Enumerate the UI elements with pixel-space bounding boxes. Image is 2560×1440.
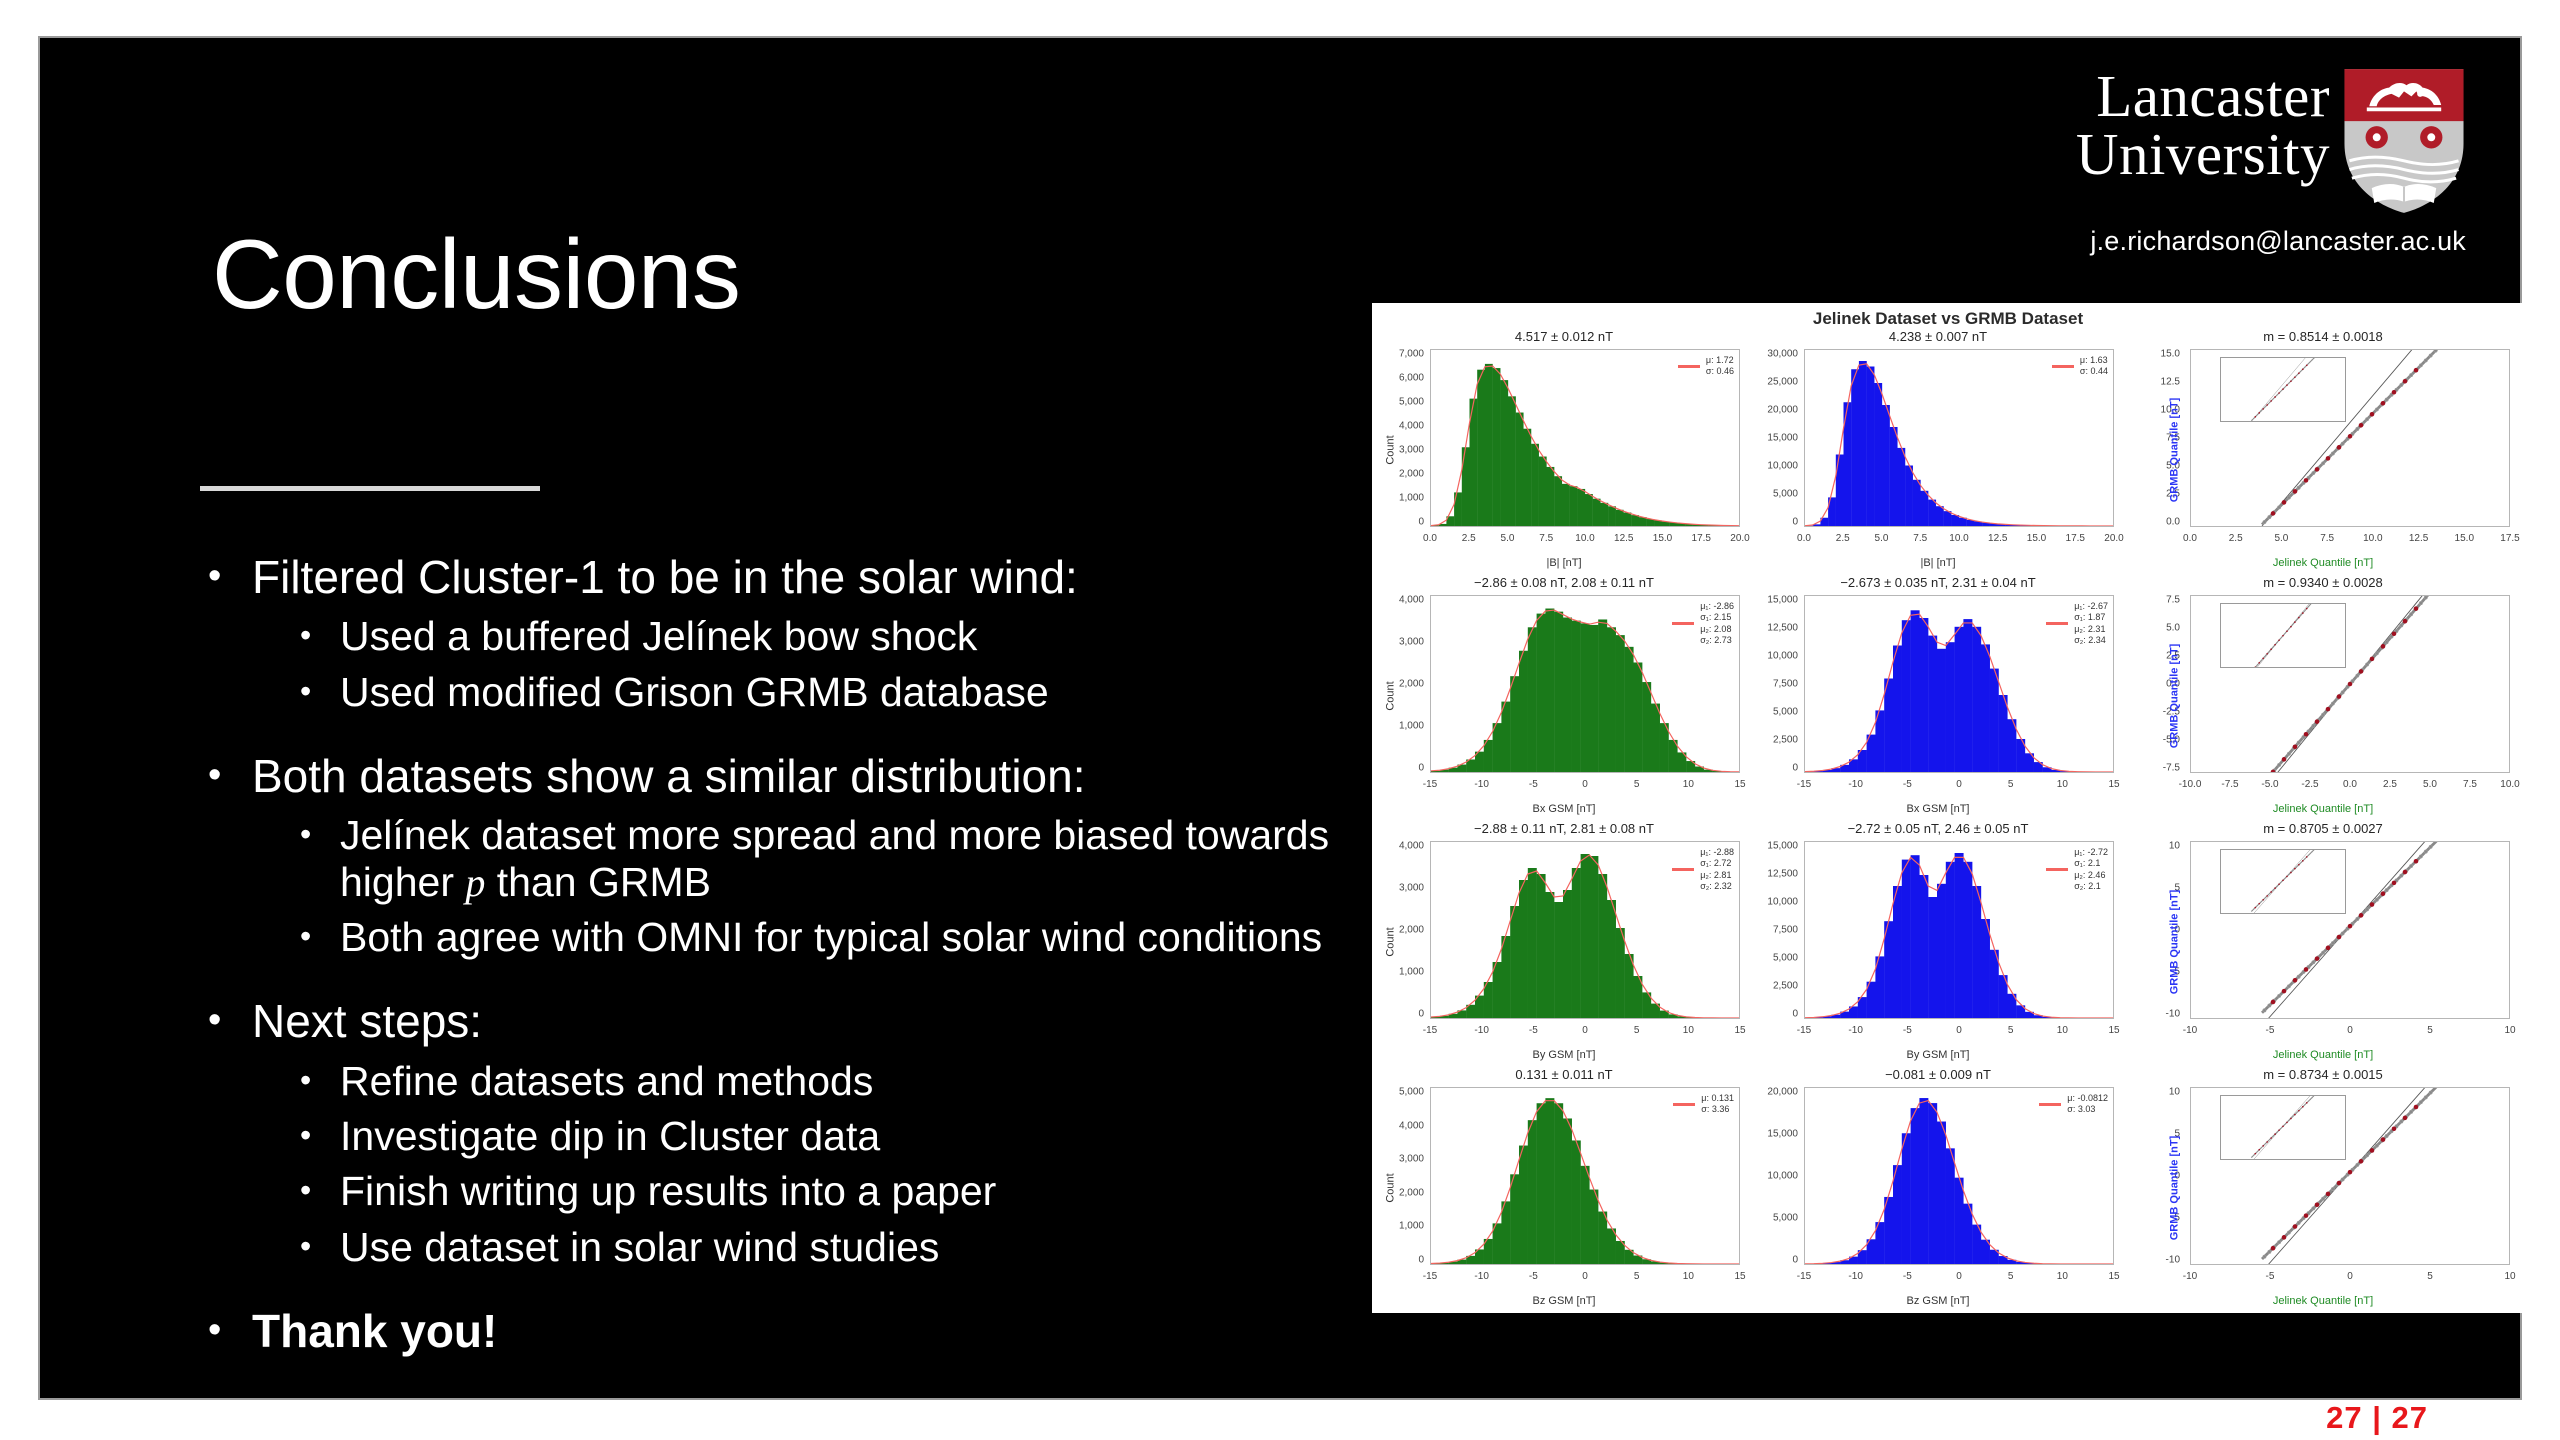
x-tick: 5	[1634, 779, 1640, 790]
quantile-point	[2282, 880, 2284, 882]
quantile-point	[2282, 1235, 2287, 1240]
quantile-point	[2262, 657, 2264, 659]
x-tick: -5	[2266, 1271, 2275, 1282]
x-tick: 2.5	[2229, 533, 2243, 544]
x-tick: -10	[1848, 779, 1862, 790]
y-tick: 0	[1418, 1254, 1424, 1265]
legend-entries: μ: 0.131σ: 3.36	[1701, 1093, 1734, 1116]
plot-grid: 4.517 ± 0.012 nTμ: 1.72σ: 0.4601,0002,00…	[1372, 327, 2524, 1313]
bullet-dot-icon: •	[300, 669, 340, 715]
x-tick-labels: 0.02.55.07.510.012.515.017.520.0	[1804, 533, 2114, 547]
quantile-point	[2304, 478, 2309, 483]
y-tick: 7,500	[1773, 679, 1798, 690]
quantile-point	[2266, 404, 2268, 406]
y-axis-label: Count	[1385, 927, 1397, 956]
y-tick: 0	[1792, 762, 1798, 773]
bullet-dot-icon: •	[300, 812, 340, 905]
x-tick: 10	[1683, 779, 1694, 790]
y-tick: 2,000	[1399, 1187, 1424, 1198]
legend-entry: σ: 3.03	[2067, 1104, 2108, 1115]
plot-cell-row3-qq: m = 0.8705 ± 0.0027-10-50510-10-50510Jel…	[2128, 819, 2518, 1065]
quantile-point	[2290, 380, 2292, 382]
x-tick: 0	[1582, 1025, 1588, 1036]
quantile-point	[2293, 1224, 2298, 1229]
quantile-point	[2282, 500, 2287, 505]
legend-entries: μ: 1.63σ: 0.44	[2080, 355, 2108, 378]
plot-title: −2.86 ± 0.08 nT, 2.08 ± 0.11 nT	[1378, 575, 1750, 590]
x-tick: 7.5	[1539, 533, 1553, 544]
quantile-point	[2302, 860, 2304, 862]
x-tick: 0	[1582, 779, 1588, 790]
x-tick-labels: 0.02.55.07.510.012.515.017.5	[2190, 533, 2510, 547]
plot-cell-row3-jelinek: −2.88 ± 0.11 nT, 2.81 ± 0.08 nTμ₁: -2.88…	[1378, 819, 1750, 1065]
quantile-point	[2262, 1145, 2264, 1147]
quantile-point	[2306, 608, 2308, 610]
x-tick: 15	[1734, 779, 1745, 790]
y-tick: 10	[2169, 841, 2180, 852]
bullet-text: Jelínek dataset more spread and more bia…	[340, 812, 1338, 905]
plot-cell-row2-grmb: −2.673 ± 0.035 nT, 2.31 ± 0.04 nTμ₁: -2.…	[1752, 573, 2124, 819]
quantile-point	[2337, 694, 2342, 699]
bullet-level2: •Refine datasets and methods	[300, 1058, 1338, 1104]
x-tick: 5	[2008, 1025, 2014, 1036]
plot-cell-row1-jelinek: 4.517 ± 0.012 nTμ: 1.72σ: 0.4601,0002,00…	[1378, 327, 1750, 573]
quantile-point	[2306, 364, 2308, 366]
y-tick: 5,000	[1399, 1087, 1424, 1098]
figure-suptitle: Jelinek Dataset vs GRMB Dataset	[1372, 309, 2524, 329]
x-tick: 10	[1683, 1025, 1694, 1036]
quantile-point	[2270, 400, 2272, 402]
bullet-level2: •Use dataset in solar wind studies	[300, 1224, 1338, 1270]
quantile-point	[2414, 859, 2419, 864]
quantile-point	[2274, 644, 2276, 646]
y-tick: 20,000	[1767, 405, 1798, 416]
x-tick: 17.5	[2500, 533, 2519, 544]
legend-swatch-icon	[1678, 365, 1700, 368]
legend-entry: σ: 3.36	[1701, 1104, 1734, 1115]
y-tick: -10	[2166, 1008, 2180, 1019]
bullet-dot-icon: •	[208, 750, 252, 803]
quantile-point	[2286, 1122, 2288, 1124]
quantile-point	[2302, 368, 2304, 370]
quantile-point	[2304, 1213, 2309, 1218]
quantile-point	[2271, 1000, 2276, 1005]
y-tick: 2,000	[1399, 925, 1424, 936]
x-tick: -15	[1797, 1025, 1811, 1036]
y-tick: 4,000	[1399, 595, 1424, 606]
x-tick: -15	[1797, 779, 1811, 790]
y-tick: 2,500	[1773, 980, 1798, 991]
y-tick: 0	[1792, 516, 1798, 527]
bullet-spacer	[208, 715, 1338, 737]
plot-legend: μ: 1.63σ: 0.44	[2052, 355, 2108, 378]
plot-title: −0.081 ± 0.009 nT	[1752, 1067, 2124, 1082]
quantile-point	[2278, 639, 2280, 641]
legend-entry: σ₁: 2.1	[2074, 858, 2108, 869]
legend-swatch-icon	[1673, 1103, 1695, 1106]
x-tick: 10	[2057, 1271, 2068, 1282]
y-tick: 1,000	[1399, 1221, 1424, 1232]
x-axis-label: Jelinek Quantile [nT]	[2128, 557, 2518, 569]
quantile-point	[2359, 1159, 2364, 1164]
x-tick: -10	[1474, 1271, 1488, 1282]
quantile-point	[2315, 956, 2320, 961]
quantile-point	[2326, 1192, 2331, 1197]
quantile-point	[2294, 376, 2296, 378]
x-tick: 0.0	[1797, 533, 1811, 544]
quantile-point	[2282, 757, 2287, 762]
legend-entry: μ: -0.0812	[2067, 1093, 2108, 1104]
legend-entry: σ₂: 2.73	[1700, 635, 1734, 646]
slide: Lancaster University	[40, 38, 2520, 1398]
plot-title: m = 0.8734 ± 0.0015	[2128, 1067, 2518, 1082]
wordmark-line1: Lancaster	[2076, 68, 2330, 126]
plot-cell-row4-qq: m = 0.8734 ± 0.0015-10-50510-10-50510Jel…	[2128, 1065, 2518, 1311]
x-tick: 10	[2504, 1271, 2515, 1282]
qq-plot	[2221, 850, 2345, 913]
quantile-point	[2315, 1202, 2320, 1207]
lancaster-university-wordmark: Lancaster University	[2076, 68, 2330, 184]
y-tick: 0	[1418, 516, 1424, 527]
y-tick: 3,000	[1399, 444, 1424, 455]
y-tick: 6,000	[1399, 373, 1424, 384]
bullet-text: Filtered Cluster-1 to be in the solar wi…	[252, 551, 1078, 604]
quantile-point	[2262, 899, 2264, 901]
quantile-point	[2294, 1114, 2296, 1116]
y-tick-labels: 05,00010,00015,00020,000	[1758, 1087, 1802, 1265]
quantile-point	[2293, 744, 2298, 749]
y-tick: 25,000	[1767, 377, 1798, 388]
quantile-point	[2298, 372, 2300, 374]
x-tick: -5	[1903, 1271, 1912, 1282]
quantile-point	[2315, 467, 2320, 472]
y-tick: 5,000	[1773, 706, 1798, 717]
plot-cell-row2-jelinek: −2.86 ± 0.08 nT, 2.08 ± 0.11 nTμ₁: -2.86…	[1378, 573, 1750, 819]
quantile-point	[2306, 856, 2308, 858]
y-tick: 5.0	[2166, 623, 2180, 634]
quantile-point	[2392, 1126, 2397, 1131]
legend-entry: σ₁: 2.72	[1700, 858, 1734, 869]
quantile-point	[2258, 662, 2260, 664]
plot-axes	[2190, 349, 2510, 527]
x-tick: -15	[1797, 1271, 1811, 1282]
x-tick: 7.5	[1913, 533, 1927, 544]
y-tick: -7.5	[2163, 762, 2180, 773]
x-tick: 0.0	[1423, 533, 1437, 544]
x-tick: -5.0	[2261, 779, 2278, 790]
x-tick: -15	[1423, 779, 1437, 790]
quantile-point	[2278, 1129, 2280, 1131]
x-tick: 7.5	[2320, 533, 2334, 544]
lancaster-university-crest-icon	[2342, 66, 2466, 216]
plot-axes	[2190, 841, 2510, 1019]
bullet-text: Used modified Grison GRMB database	[340, 669, 1049, 715]
quantile-point	[2274, 887, 2276, 889]
x-axis-label: Bz GSM [nT]	[1752, 1295, 2124, 1307]
x-tick: 15.0	[2027, 533, 2046, 544]
plot-row: −2.86 ± 0.08 nT, 2.08 ± 0.11 nTμ₁: -2.86…	[1372, 573, 2524, 819]
y-tick-labels: 02,5005,0007,50010,00012,50015,000	[1758, 595, 1802, 773]
quantile-point	[2315, 719, 2320, 724]
legend-entry: μ: 1.63	[2080, 355, 2108, 366]
qq-inset	[2220, 603, 2346, 668]
y-tick: 30,000	[1767, 349, 1798, 360]
quantile-point	[2304, 732, 2309, 737]
x-tick: 10.0	[1949, 533, 1968, 544]
quantile-point	[2392, 390, 2397, 395]
title-divider	[200, 486, 540, 491]
quantile-point	[2359, 669, 2364, 674]
quantile-point	[2414, 368, 2419, 373]
bullet-text: Investigate dip in Cluster data	[340, 1113, 880, 1159]
x-tick: 5.0	[2274, 533, 2288, 544]
y-tick: 5,000	[1773, 1212, 1798, 1223]
quantile-point	[2337, 1181, 2342, 1186]
plot-row: 0.131 ± 0.011 nTμ: 0.131σ: 3.3601,0002,0…	[1372, 1065, 2524, 1311]
x-tick: 15	[2108, 1271, 2119, 1282]
y-tick: 15,000	[1767, 433, 1798, 444]
quantile-point	[2348, 434, 2353, 439]
quantile-point	[2337, 445, 2342, 450]
x-tick-labels: -15-10-5051015	[1804, 779, 2114, 793]
y-tick: 3,000	[1399, 637, 1424, 648]
legend-entry: μ₂: 2.31	[2074, 624, 2108, 635]
x-tick: -5	[2266, 1025, 2275, 1036]
x-tick: -10	[2183, 1271, 2197, 1282]
x-tick: 0	[1956, 779, 1962, 790]
quantile-point	[2414, 1105, 2419, 1110]
plot-title: 0.131 ± 0.011 nT	[1378, 1067, 1750, 1082]
quantile-point	[2370, 657, 2375, 662]
x-tick: 5.0	[1501, 533, 1515, 544]
y-tick: 7.5	[2166, 595, 2180, 606]
bullet-text: Finish writing up results into a paper	[340, 1168, 996, 1214]
legend-entry: σ₂: 2.32	[1700, 881, 1734, 892]
y-tick: 4,000	[1399, 1120, 1424, 1131]
x-tick-labels: -15-10-5051015	[1430, 1025, 1740, 1039]
identity-line	[2251, 1096, 2314, 1159]
plot-title: 4.517 ± 0.012 nT	[1378, 329, 1750, 344]
x-tick: -5	[1529, 779, 1538, 790]
plot-legend: μ₁: -2.86σ₁: 2.15μ₂: 2.08σ₂: 2.73	[1672, 601, 1734, 646]
x-tick: 5	[2008, 779, 2014, 790]
plot-axes: μ₁: -2.72σ₁: 2.1μ₂: 2.46σ₂: 2.1	[1804, 841, 2114, 1019]
x-tick: 10	[1683, 1271, 1694, 1282]
bullet-text: Both agree with OMNI for typical solar w…	[340, 914, 1322, 960]
x-tick: -15	[1423, 1025, 1437, 1036]
quantile-point	[2326, 946, 2331, 951]
x-tick: 10.0	[1575, 533, 1594, 544]
quantile-point	[2286, 876, 2288, 878]
quantile-point	[2381, 1137, 2386, 1142]
plot-legend: μ: 0.131σ: 3.36	[1673, 1093, 1734, 1116]
plot-axes: μ: 1.72σ: 0.46	[1430, 349, 1740, 527]
y-axis-label: Count	[1385, 681, 1397, 710]
x-tick-labels: -10-50510	[2190, 1271, 2510, 1285]
x-tick: 17.5	[1692, 533, 1711, 544]
legend-entries: μ₁: -2.67σ₁: 1.87μ₂: 2.31σ₂: 2.34	[2074, 601, 2108, 646]
y-tick: 12,500	[1767, 623, 1798, 634]
quantile-point	[2266, 653, 2268, 655]
plot-cell-row3-grmb: −2.72 ± 0.05 nT, 2.46 ± 0.05 nTμ₁: -2.72…	[1752, 819, 2124, 1065]
x-tick: -10	[1848, 1271, 1862, 1282]
legend-entry: μ₁: -2.67	[2074, 601, 2108, 612]
x-tick: 15.0	[1653, 533, 1672, 544]
legend-entry: σ₁: 2.15	[1700, 612, 1734, 623]
plot-legend: μ₁: -2.88σ₁: 2.72μ₂: 2.81σ₂: 2.32	[1672, 847, 1734, 892]
quantile-point	[2282, 388, 2284, 390]
bullet-dot-icon: •	[208, 551, 252, 604]
plot-cell-row4-jelinek: 0.131 ± 0.011 nTμ: 0.131σ: 3.3601,0002,0…	[1378, 1065, 1750, 1311]
legend-entries: μ₁: -2.72σ₁: 2.1μ₂: 2.46σ₂: 2.1	[2074, 847, 2108, 892]
plot-axes: μ₁: -2.67σ₁: 1.87μ₂: 2.31σ₂: 2.34	[1804, 595, 2114, 773]
x-tick-labels: -15-10-5051015	[1804, 1271, 2114, 1285]
legend-swatch-icon	[1672, 868, 1694, 871]
quantile-point	[2278, 392, 2280, 394]
legend-swatch-icon	[1672, 622, 1694, 625]
plot-title: m = 0.8514 ± 0.0018	[2128, 329, 2518, 344]
plot-legend: μ₁: -2.72σ₁: 2.1μ₂: 2.46σ₂: 2.1	[2046, 847, 2108, 892]
quantile-point	[2381, 401, 2386, 406]
x-axis-label: Jelinek Quantile [nT]	[2128, 1295, 2518, 1307]
y-tick: 5,000	[1399, 397, 1424, 408]
qq-plot	[2221, 1096, 2345, 1159]
bullet-level1: •Thank you!	[208, 1305, 1338, 1358]
quantile-point	[2254, 907, 2256, 909]
legend-entry: σ₁: 1.87	[2074, 612, 2108, 623]
bullet-level1: •Both datasets show a similar distributi…	[208, 750, 1338, 803]
x-tick-labels: -15-10-5051015	[1430, 779, 1740, 793]
y-tick: 3,000	[1399, 883, 1424, 894]
plot-cell-row1-grmb: 4.238 ± 0.007 nTμ: 1.63σ: 0.4405,00010,0…	[1752, 327, 2124, 573]
plot-legend: μ₁: -2.67σ₁: 1.87μ₂: 2.31σ₂: 2.34	[2046, 601, 2108, 646]
x-tick: -5	[1529, 1271, 1538, 1282]
quantile-point	[2298, 617, 2300, 619]
x-tick: 5	[1634, 1025, 1640, 1036]
legend-swatch-icon	[2046, 868, 2068, 871]
x-tick-labels: -15-10-5051015	[1430, 1271, 1740, 1285]
qq-inset	[2220, 357, 2346, 422]
y-tick-labels: 02,5005,0007,50010,00012,50015,000	[1758, 841, 1802, 1019]
y-tick: 12,500	[1767, 869, 1798, 880]
plot-row: 4.517 ± 0.012 nTμ: 1.72σ: 0.4601,0002,00…	[1372, 327, 2524, 573]
quantile-point	[2258, 1149, 2260, 1151]
x-tick: -5	[1903, 1025, 1912, 1036]
x-axis-label: Bx GSM [nT]	[1752, 803, 2124, 815]
quantile-point	[2274, 396, 2276, 398]
legend-entry: μ₂: 2.46	[2074, 870, 2108, 881]
legend-entries: μ: -0.0812σ: 3.03	[2067, 1093, 2108, 1116]
bullet-dot-icon: •	[300, 1224, 340, 1270]
page-title: Conclusions	[212, 218, 740, 331]
plot-title: −2.88 ± 0.11 nT, 2.81 ± 0.08 nT	[1378, 821, 1750, 836]
quantile-point	[2286, 630, 2288, 632]
quantile-point	[2302, 612, 2304, 614]
bullet-level2: •Used a buffered Jelínek bow shock	[300, 613, 1338, 659]
quantile-point	[2348, 1170, 2353, 1175]
y-tick: 4,000	[1399, 841, 1424, 852]
y-tick: 10,000	[1767, 651, 1798, 662]
quantile-point	[2274, 1133, 2276, 1135]
y-tick: 7,500	[1773, 925, 1798, 936]
quantile-point	[2293, 978, 2298, 983]
x-tick: 0	[1956, 1025, 1962, 1036]
quantile-point	[2326, 707, 2331, 712]
x-tick: 15.0	[2455, 533, 2474, 544]
bullet-spacer	[208, 960, 1338, 982]
bullet-spacer	[208, 1270, 1338, 1292]
x-tick: -2.5	[2301, 779, 2318, 790]
legend-entries: μ: 1.72σ: 0.46	[1706, 355, 1734, 378]
quantile-point	[2254, 1153, 2256, 1155]
quantile-point	[2270, 648, 2272, 650]
y-tick: 2,500	[1773, 734, 1798, 745]
x-tick-labels: -10.0-7.5-5.0-2.50.02.55.07.510.0	[2190, 779, 2510, 793]
y-tick: 0	[1418, 762, 1424, 773]
plot-axes: μ: -0.0812σ: 3.03	[1804, 1087, 2114, 1265]
y-tick: 4,000	[1399, 421, 1424, 432]
x-tick: -10	[2183, 1025, 2197, 1036]
quantile-point	[2326, 456, 2331, 461]
quantile-point	[2293, 489, 2298, 494]
bullet-text: Next steps:	[252, 995, 482, 1048]
x-tick: 15	[2108, 779, 2119, 790]
x-tick: 0	[1582, 1271, 1588, 1282]
plot-axes	[2190, 595, 2510, 773]
quantile-point	[2381, 644, 2386, 649]
quantile-point	[2414, 606, 2419, 611]
legend-entry: σ₂: 2.34	[2074, 635, 2108, 646]
y-tick: 7,000	[1399, 349, 1424, 360]
plot-row: −2.88 ± 0.11 nT, 2.81 ± 0.08 nTμ₁: -2.88…	[1372, 819, 2524, 1065]
plot-title: m = 0.9340 ± 0.0028	[2128, 575, 2518, 590]
x-axis-label: Jelinek Quantile [nT]	[2128, 803, 2518, 815]
quantile-point	[2403, 379, 2408, 384]
x-tick: 12.5	[1614, 533, 1633, 544]
quantile-point	[2337, 935, 2342, 940]
identity-line	[2251, 850, 2314, 913]
bullet-level2: •Used modified Grison GRMB database	[300, 669, 1338, 715]
plot-cell-row2-qq: m = 0.9340 ± 0.0028-7.5-5.0-2.50.02.55.0…	[2128, 573, 2518, 819]
y-tick: 1,000	[1399, 492, 1424, 503]
x-tick-labels: -15-10-5051015	[1804, 1025, 2114, 1039]
x-axis-label: |B| [nT]	[1752, 557, 2124, 569]
quantile-point	[2266, 1141, 2268, 1143]
y-tick: 15.0	[2161, 349, 2180, 360]
quantile-point	[2258, 903, 2260, 905]
quantile-point	[2271, 511, 2276, 516]
bullet-dot-icon: •	[300, 1113, 340, 1159]
quantile-point	[2403, 619, 2408, 624]
y-tick-labels: 05,00010,00015,00020,00025,00030,000	[1758, 349, 1802, 527]
plot-axes	[2190, 1087, 2510, 1265]
x-tick: -10	[1474, 1025, 1488, 1036]
x-axis-label: Bz GSM [nT]	[1378, 1295, 1750, 1307]
y-tick: 1,000	[1399, 966, 1424, 977]
plot-cell-row4-grmb: −0.081 ± 0.009 nTμ: -0.0812σ: 3.0305,000…	[1752, 1065, 2124, 1311]
contact-email[interactable]: j.e.richardson@lancaster.ac.uk	[1906, 226, 2466, 257]
x-tick: 2.5	[1836, 533, 1850, 544]
quantile-point	[2392, 881, 2397, 886]
y-tick: 0.0	[2166, 516, 2180, 527]
quantile-point	[2298, 1110, 2300, 1112]
quantile-point	[2403, 1116, 2408, 1121]
qq-inset	[2220, 1095, 2346, 1160]
x-tick: 12.5	[2409, 533, 2428, 544]
bullet-level1: •Filtered Cluster-1 to be in the solar w…	[208, 551, 1338, 604]
bullet-dot-icon: •	[300, 613, 340, 659]
legend-entry: μ: 1.72	[1706, 355, 1734, 366]
